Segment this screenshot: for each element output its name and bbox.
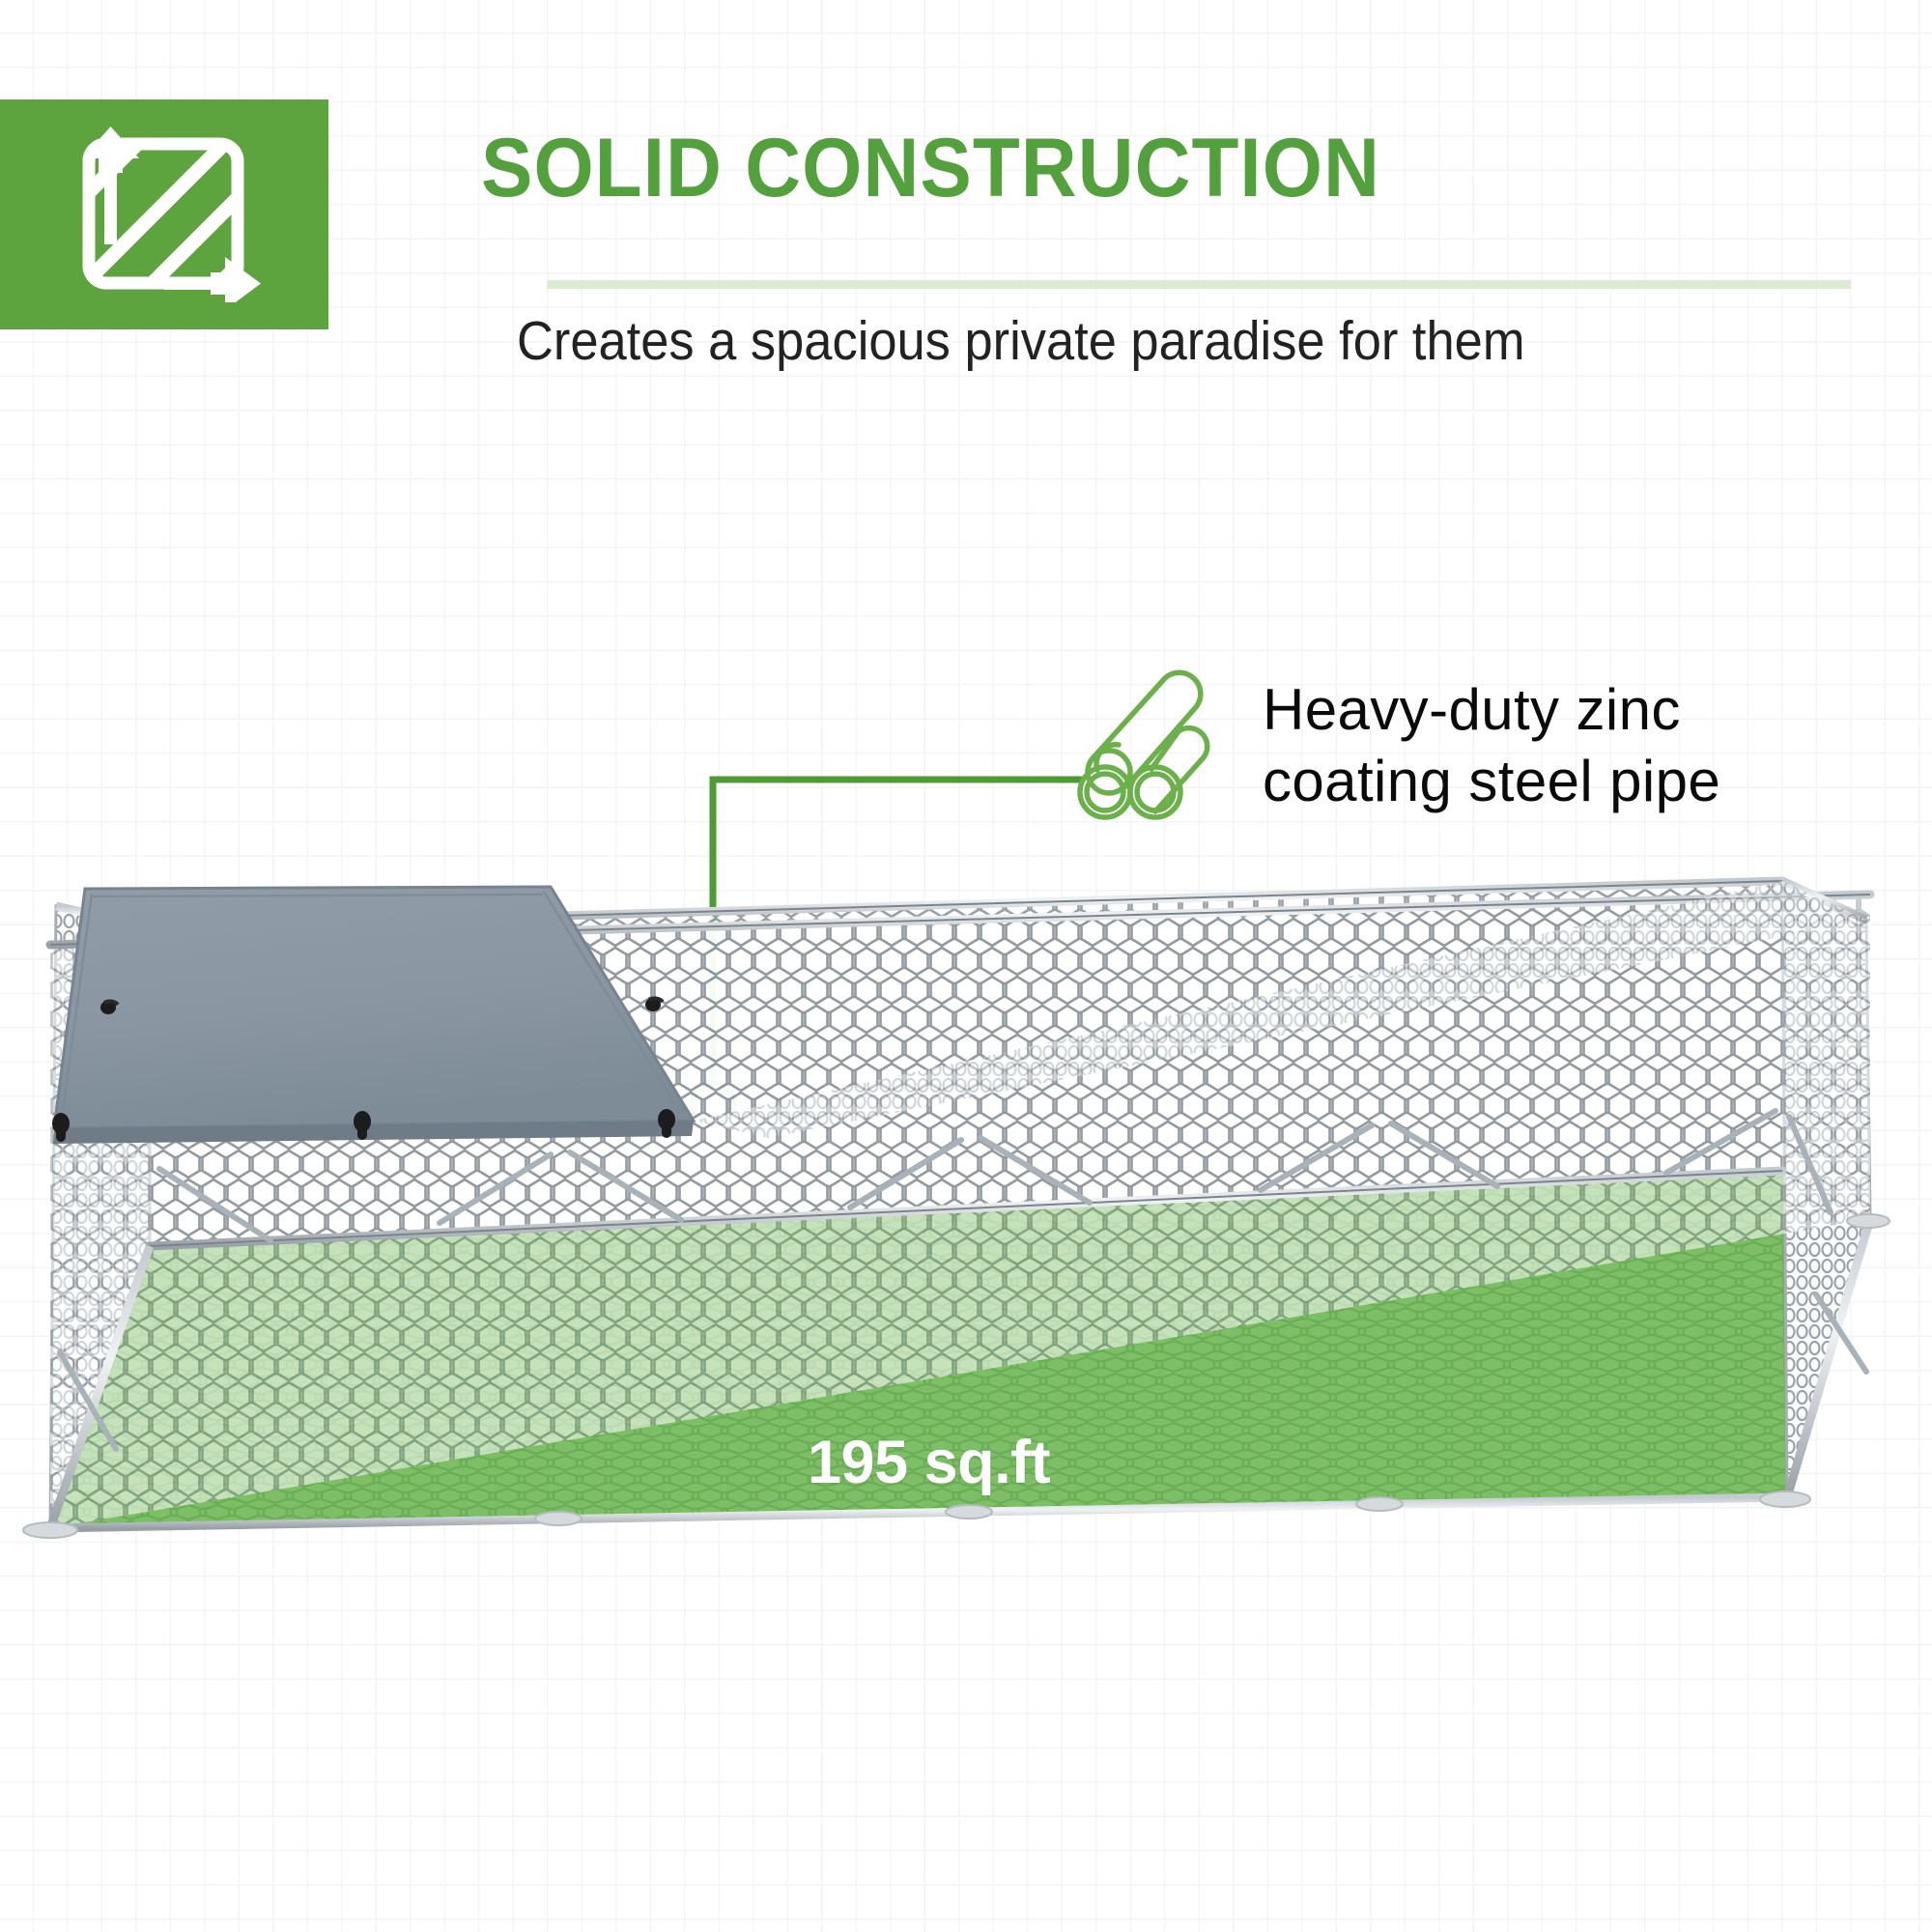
page-title: SOLID CONSTRUCTION [481,122,1757,214]
callout-line-2: coating steel pipe [1263,746,1861,817]
callout-label: Heavy-duty zinc coating steel pipe [1263,674,1861,817]
steel-pipes-icon [1059,668,1242,825]
floor-area-label: 195 sq.ft [808,1429,1050,1496]
title-divider [547,280,1851,289]
page-subtitle: Creates a spacious private paradise for … [517,307,1797,375]
area-dimensions-icon-tile [0,99,328,329]
callout-line-1: Heavy-duty zinc [1263,674,1861,746]
area-dimensions-icon [68,127,261,302]
infographic-canvas: SOLID CONSTRUCTION Creates a spacious pr… [0,0,1932,1932]
